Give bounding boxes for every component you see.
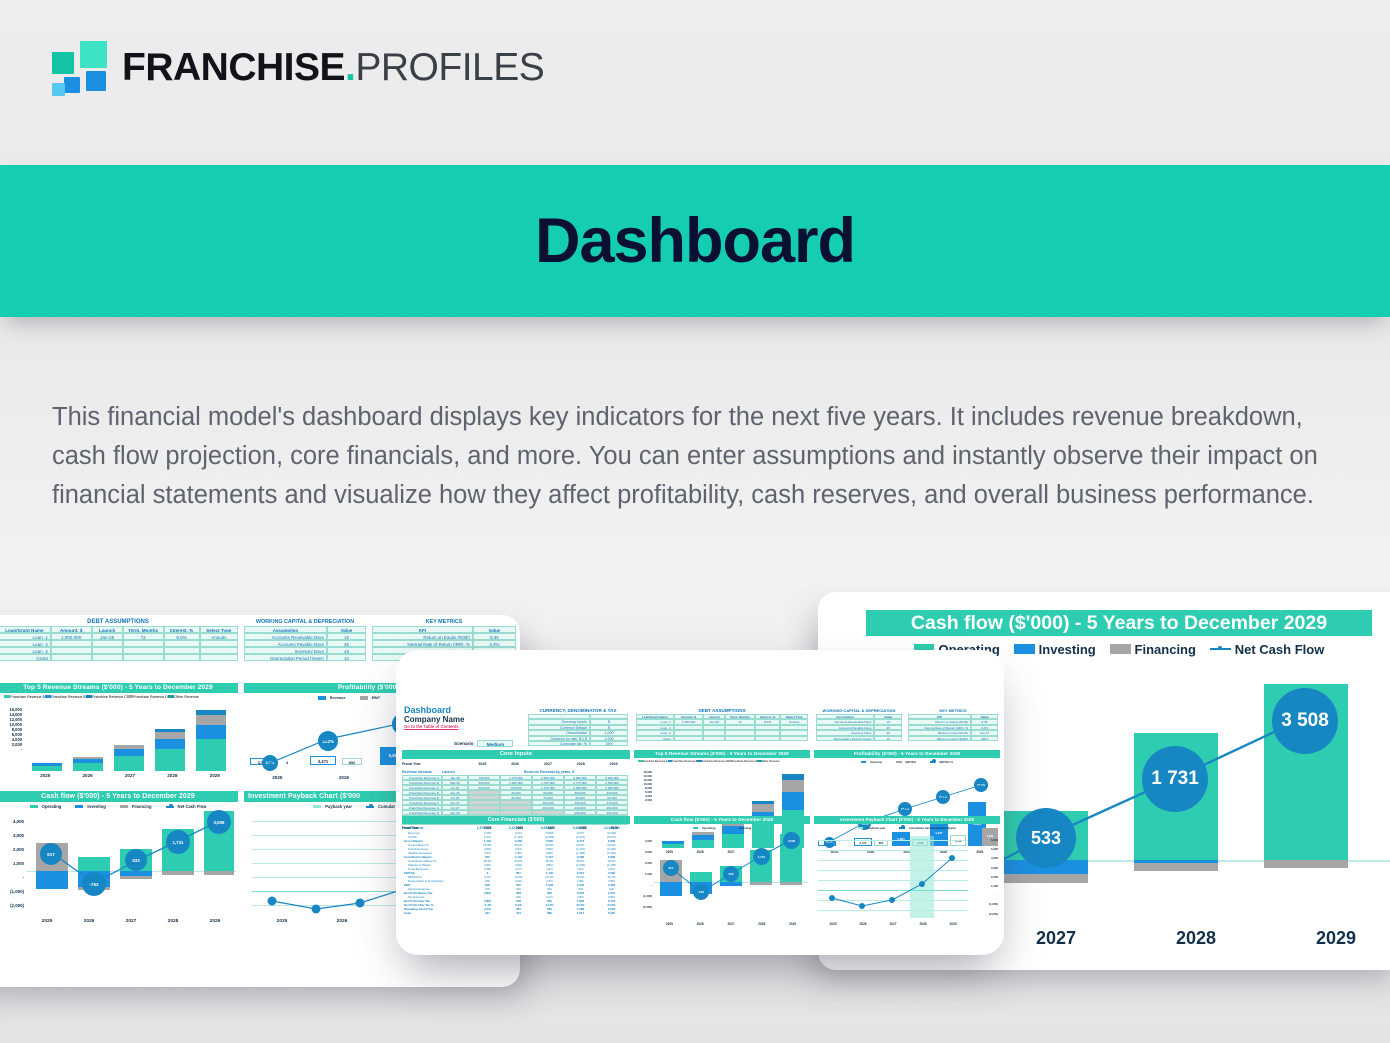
column-header: Value [473,626,516,633]
table-cell[interactable]: Internal Rate of Return (IRR), % [372,640,473,647]
value-bubble-2029: 3 508 [1272,688,1338,754]
center-payback-xaxis: 20252026202720282029 [818,922,968,926]
center-fin-header: Fiscal Year 20252026202720282029 [402,826,630,830]
axis-tick: 2026 [82,773,92,778]
legend-item: Franchise Revenue C [86,695,127,699]
column-header: Loan/Grant Name [0,626,51,633]
right-chart-title: Cash flow ($'000) - 5 Years to December … [866,610,1372,636]
fiscal-year-label: Fiscal Year [402,762,466,766]
table-cell[interactable]: 25 [327,640,366,647]
legend-item: Cumulat [366,804,395,809]
column-header: Value [327,626,366,633]
center-toc-link[interactable]: Go to the Table of Contents [404,724,544,729]
table-row: Loan_2 [0,640,238,647]
axis-tick: 2029 [610,762,618,766]
legend-label: Net Cash Flow [1235,642,1325,657]
legend-label: EBITDA % [939,760,953,764]
axis-tick: (2,000) [634,902,652,913]
center-km-table: KEY METRICS KPIValueReturn on Equity (RO… [908,708,998,741]
center-cashflow-yaxis: 4,0003,0002,0001,000-(1,000)(2,000) [634,836,652,913]
axis-tick: 3,000 [634,847,652,858]
table-cell[interactable]: Corporate tax, % [528,741,590,746]
legend-label: Revenue [870,760,882,764]
legend-label: Operating [702,826,715,830]
table-cell[interactable] [123,647,164,654]
center-km-title: KEY METRICS [908,708,998,713]
table-cell[interactable] [780,736,808,741]
axis-tick: 1,000 [634,869,652,880]
legend-swatch [729,827,734,829]
legend-swatch [1014,644,1035,653]
table-cell[interactable]: Accounts Receivable Days [244,633,327,640]
left-debt-table: DEBT ASSUMPTIONS Loan/Grant NameAmount, … [0,619,238,661]
center-debt-table: DEBT ASSUMPTIONS Loan/Grant NameAmount, … [636,708,808,741]
legend-label: Payback year [325,804,352,809]
table-cell[interactable] [123,654,164,661]
legend-swatch [1210,648,1231,650]
legend-label: Cumulative Cash Generated ($year) [909,826,956,830]
table-row: Inventory Days45 [244,647,366,654]
axis-tick: 2028 [577,762,585,766]
center-cashflow-plot: 917 -763 533 1,731 3,508 [654,836,808,918]
legend-item: Net Cash Flow [1210,642,1324,657]
table-cell[interactable]: 1,000,000 [51,633,92,640]
center-title-block: Dashboard Company Name Go to the Table o… [404,705,544,729]
left-top5-plot [24,707,236,771]
table-cell[interactable]: 72 [123,633,164,640]
axis-tick: 2029 [1316,928,1356,949]
table-cell[interactable]: Annuity [200,633,238,640]
legend-label: Franchise Revenue A [643,760,668,763]
center-dashboard-title: Dashboard [404,705,544,715]
fin-row-label: Cash [402,911,472,915]
axis-tick: - [0,747,22,752]
left-top5-legend: Franchise Revenue AFranchise Revenue BFr… [4,695,232,699]
legend-swatch [896,761,901,763]
axis-tick: - [0,871,24,885]
legend-swatch [930,761,935,763]
left-cashflow-yaxis: 4,0003,0002,0001,000-(1,000)(2,000) [0,815,24,913]
legend-label: Investing [739,826,751,830]
table-row: Return on Equity (ROE)8.35 [372,633,516,640]
axis-tick: 6,000 [970,836,998,845]
legend-item: Investing [1014,642,1096,657]
legend-item: Other Revenue [757,760,779,763]
axis-tick: 2026 [697,922,704,926]
fin-row-value: 686 [534,911,565,915]
axis-tick: 2028 [167,773,177,778]
axis-tick: 2029 [789,922,796,926]
value-bubble-2028: 1 731 [1142,746,1208,812]
center-scenario-row: Scenario Medium [454,740,513,747]
column-header: Term, Months [123,626,164,633]
axis-tick: 3,000 [0,829,24,843]
table-cell[interactable]: 138.5 [971,736,998,741]
legend-swatch [1110,644,1131,653]
center-wc-table: WORKING CAPITAL & DEPRECIATION Assumptio… [816,708,902,741]
fin-row-value: 154 [503,911,534,915]
table-cell[interactable] [123,640,164,647]
left-debt-title: DEBT ASSUMPTIONS [0,619,238,625]
center-core-financials: Core Financials ($'000) Fiscal Year 2025… [402,816,630,915]
left-cashflow-xaxis: 20252026202720282029 [26,919,236,924]
table-cell[interactable] [92,640,123,647]
table-row: Loan_3 [0,647,238,654]
axis-tick: 2029 [949,922,956,926]
axis-tick: 2,000 [0,843,24,857]
table-cell[interactable] [200,647,238,654]
axis-tick: 2027 [125,773,135,778]
axis-tick: 2025 [40,773,50,778]
left-top5-xaxis: 20252026202720282029 [24,773,236,778]
table-cell[interactable] [92,647,123,654]
axis-tick: 4,000 [970,854,998,863]
forecast-label: Revenue Forecast by years, $ [468,770,630,774]
legend-item: Operating [693,826,716,830]
table-cell[interactable] [725,736,754,741]
brand-name-bold: FRANCHISE [122,46,345,89]
center-currency-table: CURRENCY, DENOMINATOR & TAX Currency Inp… [528,708,628,746]
center-profit-legend: RevenueEBITDAEBITDA % [814,760,1000,764]
table-cell[interactable]: Minimum Cash ($'000) [908,736,971,741]
left-cashflow-plot: 917 -763 533 1,731 3,508 [26,815,236,915]
axis-tick: 2025 [478,762,486,766]
axis-tick: 2025 [42,919,53,924]
legend-item: EBITDA [896,760,916,764]
scenario-select[interactable]: Medium [477,740,513,747]
axis-tick: 2,000 [970,873,998,882]
fin-row-value: 917 [472,911,503,915]
axis-tick: 2027 [727,922,734,926]
table-row: Depreciation Period (Years)10 [816,736,902,741]
center-top5-legend: Franchise Revenue AFranchise Revenue BFr… [638,760,806,763]
table-cell[interactable] [200,640,238,647]
center-cashflow-chart: Cash flow ($'000) - 5 Years to December … [634,816,810,946]
legend-swatch [899,827,904,829]
table-row: Loan_11,000,000Jan-25728.0%Annuity [0,633,238,640]
center-cashflow-xaxis: 20252026202720282029 [654,922,808,926]
table-cell[interactable]: Accounts Payable Days [244,640,327,647]
column-header: Amount, $ [51,626,92,633]
column-header: Launch [92,626,123,633]
axis-tick: 2027 [889,922,896,926]
table-cell[interactable]: Depreciation Period (Years) [244,654,327,661]
table-row: Accounts Payable Days25 [244,640,366,647]
axis-tick: 2025 [829,922,836,926]
legend-label: Franchise Revenue C [92,695,127,699]
column-header: Select Type [200,626,238,633]
legend-item: Cumulative Cash Generated ($year) [899,826,956,830]
left-top5-chart: Top 5 Revenue Streams ($'000) - 5 Years … [0,683,238,785]
table-cell[interactable]: Inventory Days [244,647,327,654]
axis-tick: 4,000 [0,815,24,829]
legend-swatch [366,806,374,808]
table-cell[interactable] [703,736,725,741]
legend-label: Operating [42,804,62,809]
table-row: Minimum Cash ($'000)138.5 [908,736,998,741]
center-payback-chart: Investment Payback Chart ($'000) - 5 Yea… [814,816,1000,946]
legend-item: Franchise Revenue C [697,760,727,763]
screenshot-collage: & TAX $$1,0001,00015% DEBT ASSUMPTIONS L… [0,560,1390,1043]
legend-label: Revenue [330,696,346,700]
legend-label: Franchise Revenue B [51,695,86,699]
axis-tick: 3,000 [970,864,998,873]
legend-label: Financing [1135,642,1196,657]
table-cell[interactable] [51,647,92,654]
table-cell[interactable] [164,647,200,654]
axis-tick: 4,000 [634,836,652,847]
legend-label: Franchise Revenue A [10,695,44,699]
legend-label: Franchise Revenue C [702,760,727,763]
table-cell[interactable] [164,640,200,647]
table-cell[interactable]: Depreciation Period (Years) [816,736,874,741]
brand-logo: FRANCHISE.PROFILES [52,38,544,96]
legend-item: Investing [75,804,105,809]
axis-tick: 2025 [666,922,673,926]
launch-label: Launch [442,770,468,774]
legend-item: Net Cash Flow [166,804,207,809]
legend-item: Revenue [318,696,346,700]
axis-tick: 2025 [484,826,491,830]
legend-item: EBIT [360,696,381,700]
legend-item: Other Revenue [168,695,199,699]
table-cell[interactable]: Jan-25 [92,633,123,640]
left-wc-table: WORKING CAPITAL & DEPRECIATION Assumptio… [244,619,366,661]
legend-item: EBITDA % [930,760,953,764]
center-rev-header-row: Revenue streams Launch Revenue Forecast … [402,770,630,774]
table-cell[interactable] [755,736,781,741]
legend-item: Franchise Revenue A [638,760,668,763]
table-cell[interactable] [51,654,92,661]
axis-tick: 2028 [168,919,179,924]
axis-tick: 2029 [611,826,618,830]
center-top5-title: Top 5 Revenue Streams ($'000) - 5 Years … [634,750,810,758]
center-wc-title: WORKING CAPITAL & DEPRECIATION [816,708,902,713]
legend-swatch [30,805,38,809]
table-cell[interactable]: 8.35 [473,633,516,640]
table-cell[interactable] [164,654,200,661]
left-wc-title: WORKING CAPITAL & DEPRECIATION [244,619,366,625]
table-row: Cash9171546861,9175,925 [402,911,630,915]
brand-wordmark: FRANCHISE.PROFILES [122,48,544,87]
table-cell[interactable]: 15 [327,633,366,640]
legend-label: Cumulat [378,804,395,809]
table-cell[interactable]: Loan_2 [0,640,51,647]
legend-item: Investing [729,826,751,830]
axis-tick: 5,000 [970,845,998,854]
axis-tick: (1,000) [970,900,998,909]
legend-label: Other Revenue [762,760,780,763]
axis-tick: 2028 [579,826,586,830]
table-row: Grant [636,736,808,741]
axis-tick: - [634,880,652,891]
legend-item: Franchise Revenue B [45,695,86,699]
axis-tick: 2028 [919,922,926,926]
legend-label: Franchise Revenue B [672,760,697,763]
left-cashflow-legend: OperatingInvestingFinancingNet Cash Flow [4,804,232,809]
legend-item: Revenue [861,760,882,764]
legend-label: Payback year [867,826,885,830]
legend-item: Payback year [313,804,352,809]
legend-swatch [166,806,174,808]
table-row: Grant [0,654,238,661]
axis-tick: - [970,891,998,900]
legend-swatch [75,805,83,809]
column-header: Interest, % [164,626,200,633]
page-banner: Dashboard [0,165,1390,317]
legend-label: Franchise Revenue D [133,695,168,699]
column-header: KPI [372,626,473,633]
center-payback-yaxis: 6,0005,0004,0003,0002,0001,000-(1,000)(2… [970,836,998,919]
center-core-inputs-title: Core Inputs [402,750,630,759]
fin-row-value: 1,917 [565,911,596,915]
table-cell[interactable]: 4.3% [473,640,516,647]
center-cashflow-legend: OperatingInvesting [634,826,810,830]
table-cell[interactable]: 15% [590,741,628,746]
legend-item: Franchise Revenue D [727,760,757,763]
legend-label: Franchise Revenue D [732,760,757,763]
axis-tick: 2027 [547,826,554,830]
axis-tick: 2029 [210,919,221,924]
legend-label: Investing [1039,642,1096,657]
legend-swatch [360,696,368,700]
legend-swatch [318,696,326,700]
axis-tick: (2,000) [0,899,24,913]
axis-tick: - [634,802,652,806]
left-cashflow-chart: Cash flow ($'000) - 5 Years to December … [0,791,238,931]
table-cell[interactable] [92,654,123,661]
axis-tick: 2027 [1036,928,1076,949]
table-cell[interactable]: Grant [636,736,674,741]
table-cell[interactable]: Return on Equity (ROE) [372,633,473,640]
center-payback-plot [818,836,968,918]
table-cell[interactable]: Grant [0,654,51,661]
center-top5-yaxis: 16,00014,00012,00010,0008,0006,0004,0002… [634,770,652,806]
legend-item: Franchise Revenue A [4,695,45,699]
axis-tick: 2027 [126,919,137,924]
legend-swatch [120,805,128,809]
intro-paragraph: This financial model's dashboard display… [52,398,1342,515]
legend-label: EBITDA [906,760,916,764]
legend-swatch [858,827,863,829]
center-profit-title: Profitability ($'000) - 5 Years to Decem… [814,750,1000,758]
table-cell[interactable] [200,654,238,661]
legend-item: Operating [30,804,62,809]
legend-item: Financing [120,804,152,809]
legend-label: Financing [132,804,152,809]
table-cell[interactable]: Loan_1 [0,633,51,640]
center-debt-title: DEBT ASSUMPTIONS [636,708,808,713]
axis-tick: 2026 [859,922,866,926]
axis-tick: 2026 [337,919,348,924]
table-cell[interactable] [51,640,92,647]
table-cell[interactable]: 10 [327,654,366,661]
page-header: FRANCHISE.PROFILES [0,0,1390,165]
axis-tick: (1,000) [0,885,24,899]
table-cell[interactable]: Loan_3 [0,647,51,654]
left-cashflow-title: Cash flow ($'000) - 5 Years to December … [0,791,238,802]
center-payback-legend: Payback yearCumulative Cash Generated ($… [814,826,1000,830]
logo-squares-icon [52,38,108,96]
axis-tick: 2026 [516,826,523,830]
axis-tick: 2028 [758,922,765,926]
center-payback-title: Investment Payback Chart ($'000) - 5 Yea… [814,816,1000,824]
value-bubble-2027: 533 [1016,808,1076,868]
table-cell[interactable] [674,736,703,741]
axis-tick: (2,000) [970,910,998,919]
page-title: Dashboard [535,205,855,277]
table-cell[interactable]: 8.0% [164,633,200,640]
center-core-fin-title: Core Financials ($'000) [402,816,630,824]
left-km-title: KEY METRICS [372,619,516,625]
legend-label: EBIT [372,696,381,700]
axis-tick: (1,000) [634,891,652,902]
table-cell[interactable]: 10 [874,736,902,741]
legend-item: Franchise Revenue D [127,695,168,699]
scenario-label: Scenario [454,741,473,746]
axis-tick: 2026 [511,762,519,766]
table-row: Corporate tax, %15% [528,741,628,746]
center-fiscal-year-row: Fiscal Year 20252026202720282029 [402,762,630,766]
center-company-name: Company Name [404,715,544,724]
axis-tick: 2027 [544,762,552,766]
legend-swatch [861,761,866,763]
legend-item: Payback year [858,826,885,830]
center-currency-title: CURRENCY, DENOMINATOR & TAX [528,708,628,713]
table-row: Depreciation Period (Years)10 [244,654,366,661]
fin-fiscal-label: Fiscal Year [402,826,472,830]
table-cell[interactable]: 45 [327,647,366,654]
axis-tick: 2026 [84,919,95,924]
column-header: Assumption [244,626,327,633]
legend-item: Financing [1110,642,1196,657]
table-header-row: Loan/Grant NameAmount, $LaunchTerm, Mont… [0,626,238,633]
legend-swatch [693,827,698,829]
left-top5-title: Top 5 Revenue Streams ($'000) - 5 Years … [0,683,238,693]
center-screenshot-panel: Dashboard Company Name Go to the Table o… [396,650,1004,955]
legend-label: Other Revenue [174,695,198,699]
legend-label: Investing [87,804,105,809]
brand-name-light: PROFILES [355,46,544,89]
center-cashflow-title: Cash flow ($'000) - 5 Years to December … [634,816,810,824]
legend-label: Net Cash Flow [178,804,207,809]
axis-tick: 2025 [277,919,288,924]
legend-swatch [313,805,321,809]
revenue-streams-label: Revenue streams [402,770,442,774]
axis-tick: 2,000 [634,858,652,869]
table-header-row: AssumptionValue [244,626,366,633]
brand-name-dot: . [345,46,355,89]
axis-tick: 1,000 [0,857,24,871]
table-row: Accounts Receivable Days15 [244,633,366,640]
axis-tick: 2028 [1176,928,1216,949]
legend-item: Franchise Revenue B [668,760,698,763]
table-header-row: KPIValue [372,626,516,633]
axis-tick: 2029 [210,773,220,778]
table-row: Internal Rate of Return (IRR), %4.3% [372,640,516,647]
axis-tick: 1,000 [970,882,998,891]
fin-row-value: 5,925 [596,911,627,915]
left-top5-yaxis: 16,00014,00012,00010,0008,0006,0004,0002… [0,707,22,752]
